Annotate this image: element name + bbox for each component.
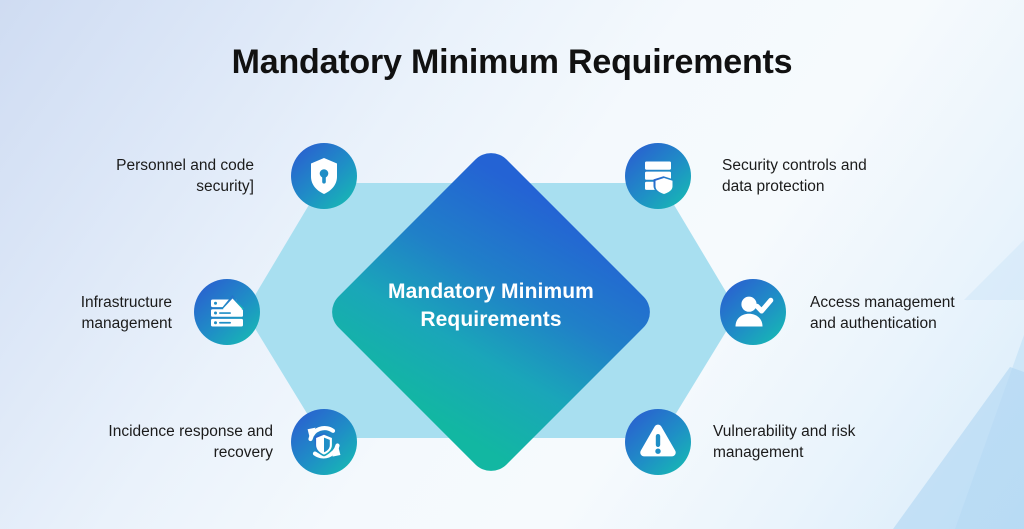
warning-triangle-icon [625, 409, 691, 475]
label-incidence-response-and-recovery: Incidence response and recovery [40, 421, 273, 464]
label-line2: recovery [214, 444, 273, 461]
label-infrastructure-management: Infrastructure management [18, 292, 172, 335]
label-personnel-and-code-security: Personnel and code security] [48, 155, 254, 198]
node-security-controls-and-data-protection[interactable] [625, 143, 691, 209]
node-incidence-response-and-recovery[interactable] [291, 409, 357, 475]
label-line2: and authentication [810, 315, 937, 332]
label-line1: Incidence response and [108, 423, 273, 440]
diagram-canvas: Mandatory Minimum Requirements Mandatory… [0, 0, 1024, 529]
label-line2: security] [196, 178, 254, 195]
label-line1: Vulnerability and risk [713, 423, 855, 440]
node-vulnerability-and-risk-management[interactable] [625, 409, 691, 475]
center-diamond [323, 144, 659, 480]
node-personnel-and-code-security[interactable] [291, 143, 357, 209]
label-security-controls-and-data-protection: Security controls and data protection [722, 155, 972, 198]
label-vulnerability-and-risk-management: Vulnerability and risk management [713, 421, 963, 464]
shield-lock-icon [291, 143, 357, 209]
label-line2: management [82, 315, 172, 332]
database-shield-icon [625, 143, 691, 209]
label-line2: management [713, 444, 803, 461]
label-access-management-and-authentication: Access management and authentication [810, 292, 1020, 335]
label-line1: Access management [810, 294, 955, 311]
node-infrastructure-management[interactable] [194, 279, 260, 345]
refresh-shield-icon [291, 409, 357, 475]
label-line1: Security controls and [722, 157, 867, 174]
label-line1: Infrastructure [81, 294, 172, 311]
label-line2: data protection [722, 178, 825, 195]
page-title: Mandatory Minimum Requirements [0, 43, 1024, 82]
label-line1: Personnel and code [116, 157, 254, 174]
server-rack-icon [194, 279, 260, 345]
node-access-management-and-authentication[interactable] [720, 279, 786, 345]
user-check-icon [720, 279, 786, 345]
